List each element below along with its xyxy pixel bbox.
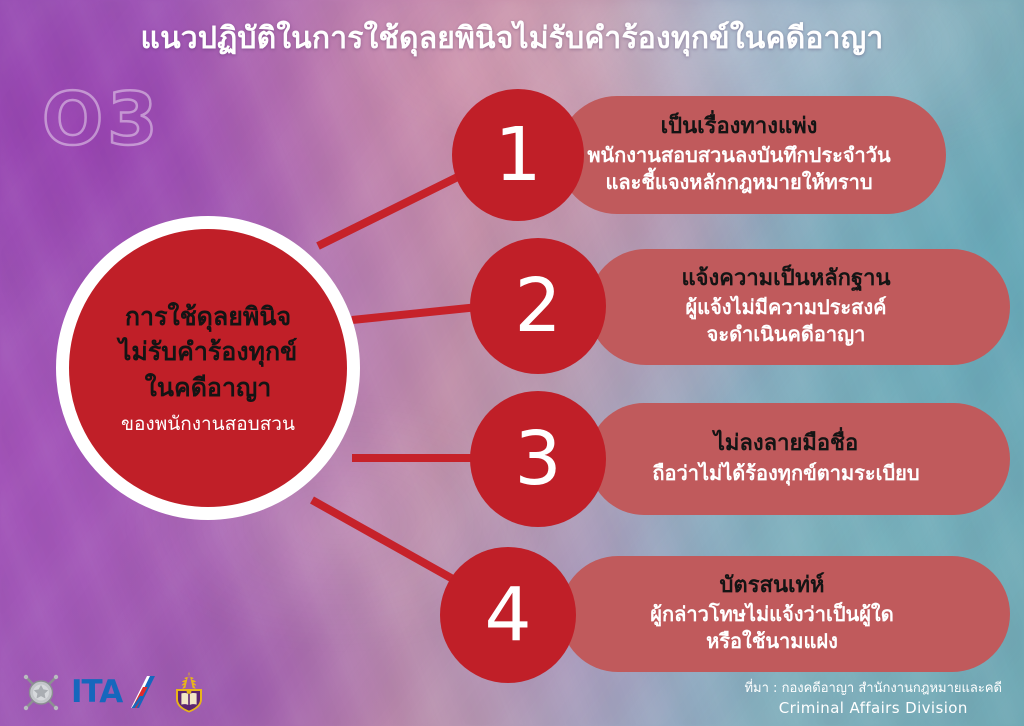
logo-row: ITA	[20, 670, 206, 714]
item-body-3: ถือว่าไม่ได้ร้องทุกข์ตามระเบียบ	[652, 460, 919, 486]
item-pill-1: เป็นเรื่องทางแพ่ง พนักงานสอบสวนลงบันทึกป…	[558, 96, 946, 214]
royal-thai-police-crest-icon	[172, 671, 206, 713]
item-heading-2: แจ้งความเป็นหลักฐาน	[681, 265, 890, 294]
item-heading-4: บัตรสนเท่ห์	[719, 572, 824, 601]
item-badge-2: 2	[470, 238, 606, 374]
ita-logo-flag-stripes	[131, 676, 155, 708]
item-pill-4: บัตรสนเท่ห์ ผู้กล่าวโทษไม่แจ้งว่าเป็นผู้…	[560, 556, 1010, 672]
item-body-4: ผู้กล่าวโทษไม่แจ้งว่าเป็นผู้ใด หรือใช้นา…	[650, 601, 893, 654]
item-pill-3: ไม่ลงลายมือชื่อ ถือว่าไม่ได้ร้องทุกข์ตาม…	[588, 403, 1010, 515]
item-badge-1: 1	[452, 89, 584, 221]
item-pill-2: แจ้งความเป็นหลักฐาน ผู้แจ้งไม่มีความประส…	[588, 249, 1010, 365]
ita-logo-text: ITA	[71, 674, 123, 710]
hub-title: การใช้ดุลยพินิจ ไม่รับคำร้องทุกข์ ในคดีอ…	[119, 299, 297, 406]
source-credit-english: Criminal Affairs Division	[744, 698, 1002, 718]
item-heading-3: ไม่ลงลายมือชื่อ	[714, 430, 858, 459]
infographic-poster: แนวปฏิบัติในการใช้ดุลยพินิจไม่รับคำร้องท…	[0, 0, 1024, 726]
police-shield-emblem-icon	[20, 670, 62, 714]
item-badge-3: 3	[470, 391, 606, 527]
center-hub: การใช้ดุลยพินิจ ไม่รับคำร้องทุกข์ ในคดีอ…	[56, 216, 360, 520]
hub-subtitle: ของพนักงานสอบสวน	[121, 412, 295, 437]
ita-logo: ITA	[71, 672, 163, 712]
item-body-1: พนักงานสอบสวนลงบันทึกประจำวัน และชี้แจงห…	[587, 142, 890, 195]
item-badge-4: 4	[440, 547, 576, 683]
source-credit-thai: ที่มา : กองคดีอาญา สำนักงานกฎหมายและคดี	[744, 680, 1002, 698]
item-heading-1: เป็นเรื่องทางแพ่ง	[661, 113, 818, 142]
item-body-2: ผู้แจ้งไม่มีความประสงค์ จะดำเนินคดีอาญา	[685, 294, 886, 347]
source-credit: ที่มา : กองคดีอาญา สำนักงานกฎหมายและคดี …	[744, 680, 1002, 718]
